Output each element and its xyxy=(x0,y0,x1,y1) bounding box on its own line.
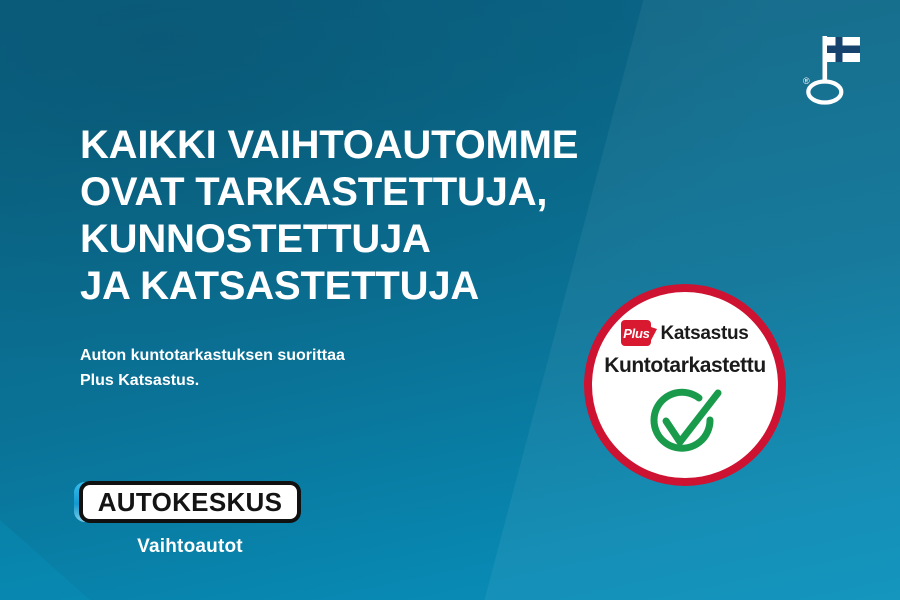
headline-line-3: KUNNOSTETTUJA xyxy=(80,216,680,263)
headline: KAIKKI VAIHTOAUTOMME OVAT TARKASTETTUJA,… xyxy=(80,122,680,310)
logo-wordmark: AUTOKESKUS xyxy=(98,489,283,515)
avainlippu-key-flag-icon: ® xyxy=(786,22,872,108)
autokeskus-logo: AUTOKESKUS xyxy=(74,481,306,523)
logo-tagline: Vaihtoautot xyxy=(74,536,306,558)
plus-logo-label: Plus xyxy=(621,320,651,346)
badge-brand-name: Katsastus xyxy=(660,324,748,343)
green-checkmark-icon xyxy=(644,385,726,461)
plus-logo-mark: Plus xyxy=(621,320,655,346)
svg-text:®: ® xyxy=(803,76,810,86)
autokeskus-logo-lockup: AUTOKESKUS Vaihtoautot xyxy=(74,481,314,558)
subhead-line-1: Auton kuntotarkastuksen suorittaa xyxy=(80,343,500,368)
logo-plate-inner: AUTOKESKUS xyxy=(83,485,297,519)
badge-claim-text: Kuntotarkastettu xyxy=(604,355,766,376)
promo-banner: ® KAIKKI VAIHTOAUTOMME OVAT TARKASTETTUJ… xyxy=(0,0,900,600)
plus-katsastus-badge: Plus Katsastus Kuntotarkastettu xyxy=(584,284,786,486)
subhead-line-2: Plus Katsastus. xyxy=(80,368,500,393)
headline-line-2: OVAT TARKASTETTUJA, xyxy=(80,169,680,216)
headline-line-1: KAIKKI VAIHTOAUTOMME xyxy=(80,122,680,169)
subhead: Auton kuntotarkastuksen suorittaa Plus K… xyxy=(80,343,500,393)
logo-plate: AUTOKESKUS xyxy=(79,481,301,523)
headline-line-4: JA KATSASTETTUJA xyxy=(80,263,680,310)
badge-brand-row: Plus Katsastus xyxy=(621,320,748,346)
